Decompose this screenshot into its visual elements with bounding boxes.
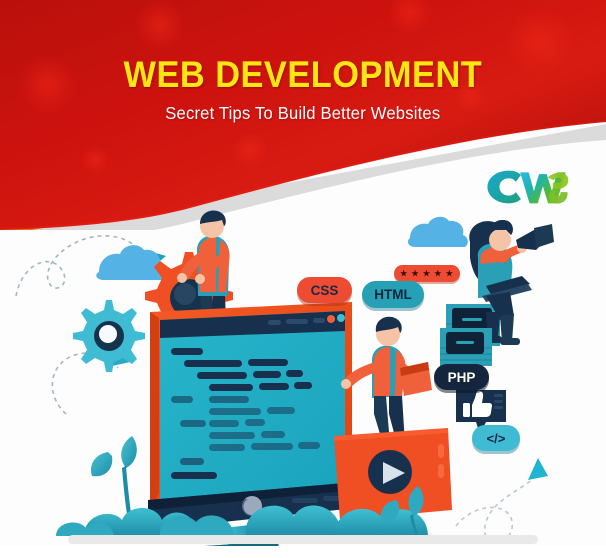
bottom-spacer — [0, 546, 606, 558]
character-developer — [341, 317, 432, 447]
dashed-path-bottom-right — [456, 480, 532, 543]
cloud-icon-2 — [408, 217, 468, 247]
ground-shadow — [68, 535, 538, 544]
gear-small-icon — [73, 300, 145, 372]
illustration — [0, 200, 606, 558]
badge-code-tag[interactable]: </> — [472, 425, 520, 451]
badge-stars[interactable]: ★ ★ ★ ★ ★ — [394, 265, 460, 282]
web-development-banner: WEB DEVELOPMENT Secret Tips To Build Bet… — [0, 0, 606, 558]
paper-plane-icon-2 — [528, 458, 548, 480]
cloud-icon — [96, 245, 165, 280]
badge-html[interactable]: HTML — [362, 281, 424, 308]
badge-php[interactable]: PHP — [434, 364, 489, 390]
badge-css[interactable]: CSS — [297, 277, 352, 303]
